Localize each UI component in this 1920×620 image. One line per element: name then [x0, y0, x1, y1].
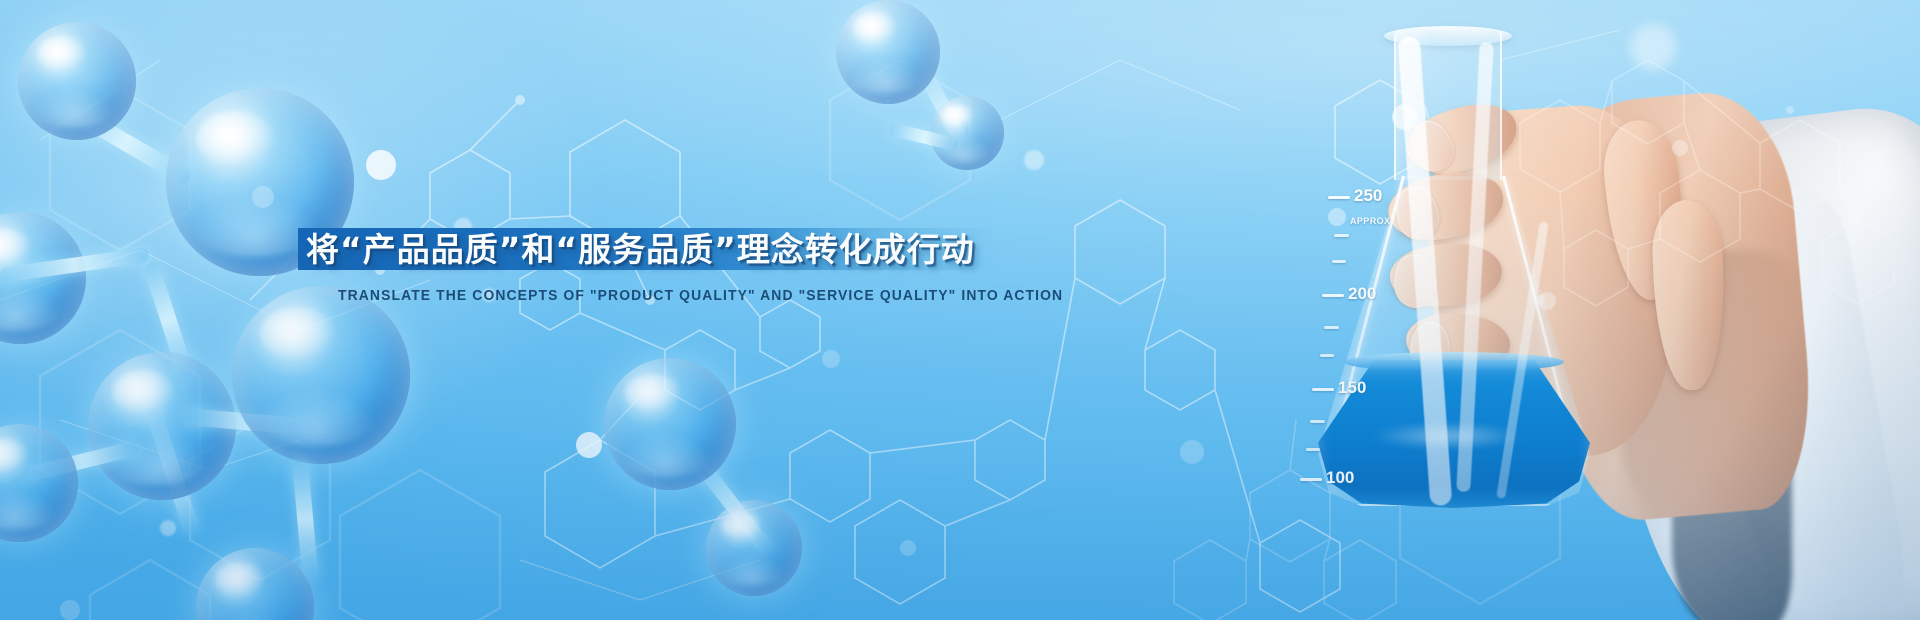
banner-hero: 250 APPROX 200 150 100 [0, 0, 1920, 620]
background-overlay-tint [0, 0, 1920, 620]
